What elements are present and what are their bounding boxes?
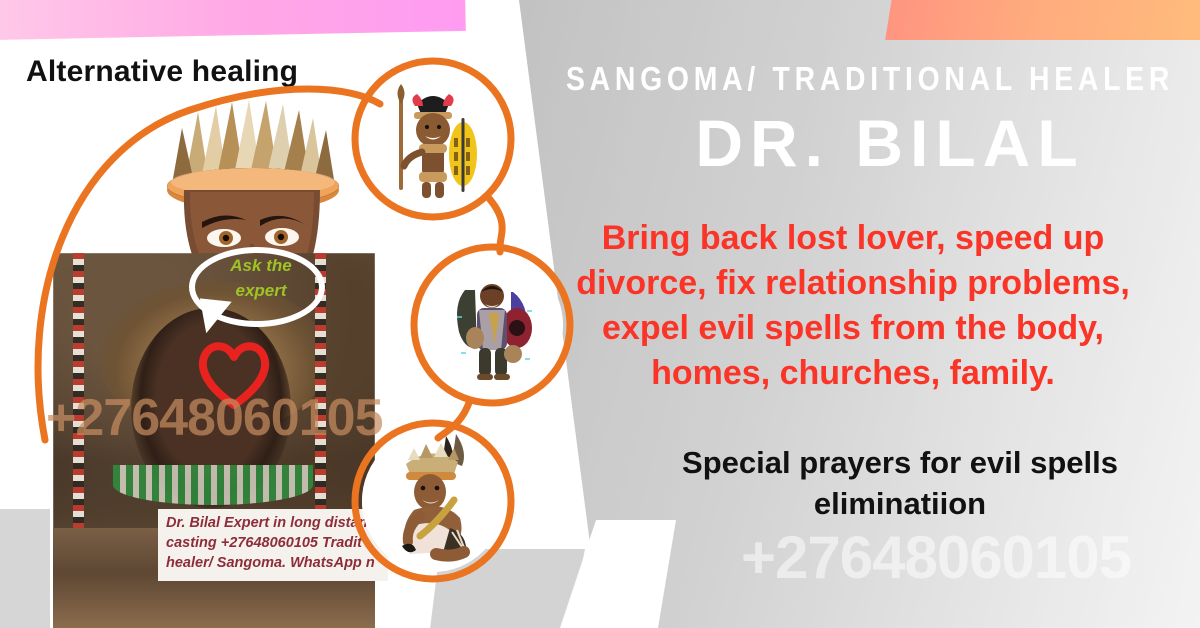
thumbnail-crouching-warrior-figure [362, 430, 504, 572]
photo-caption-box: Dr. Bilal Expert in long distan casting … [158, 509, 388, 581]
bottom-left-grey-block [0, 509, 50, 628]
phone-watermark: +27648060105 [676, 523, 1196, 592]
photo-caption-text: Dr. Bilal Expert in long distan casting … [166, 513, 382, 573]
kicker-text: SANGOMA/ TRADITIONAL HEALER [566, 60, 1099, 98]
top-orange-band [885, 0, 1200, 40]
thumbnail-zulu-warrior-cartoon [362, 68, 504, 210]
services-text: Bring back lost lover, speed up divorce,… [543, 216, 1163, 396]
healer-name: DR. BILAL [600, 105, 1180, 181]
photo-phone-watermark: +27648060105 [46, 388, 383, 448]
poster-canvas: Alternative healing [0, 0, 1200, 628]
secondary-text: Special prayers for evil spells eliminat… [620, 443, 1180, 525]
thumbnail-robed-healer-figure [421, 254, 563, 396]
photo-beaded-necklace [113, 465, 313, 505]
speech-bubble-text: Ask the expert [205, 254, 317, 303]
page-title: Alternative healing [26, 55, 298, 89]
top-pink-band [0, 0, 466, 40]
